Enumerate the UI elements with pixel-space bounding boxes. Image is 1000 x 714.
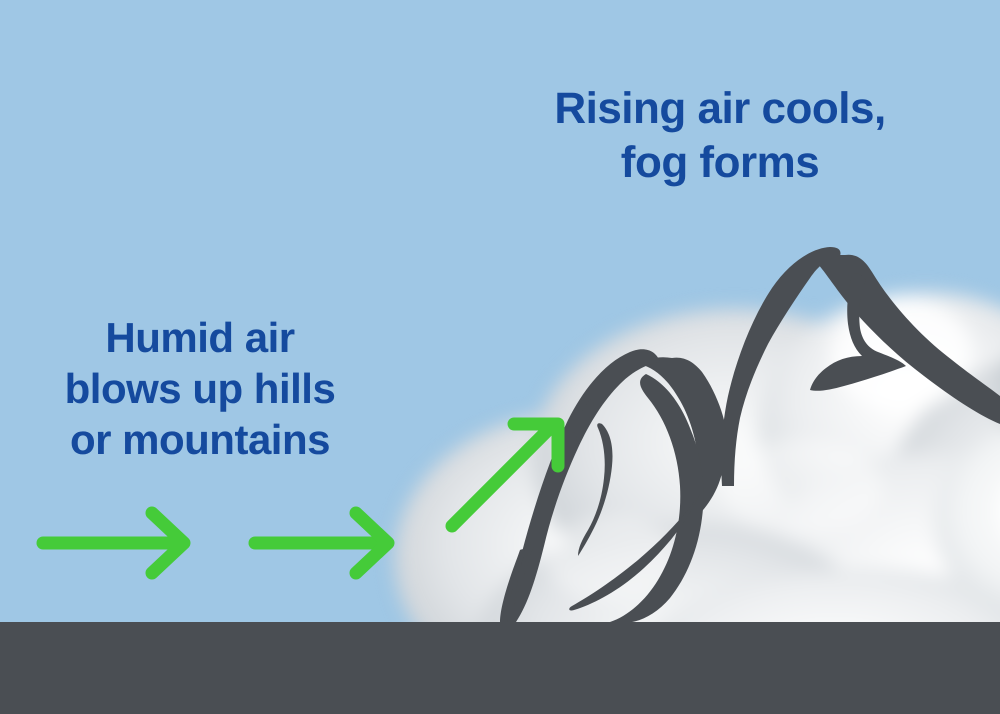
diagram-canvas: Rising air cools, fog forms Humid air bl… — [0, 0, 1000, 714]
wind-arrow-2 — [255, 513, 388, 573]
wind-arrow-1 — [43, 513, 184, 573]
label-rising-air-cools: Rising air cools, fog forms — [510, 82, 930, 189]
label-humid-air-blows-up: Humid air blows up hills or mountains — [55, 312, 345, 466]
upslope-arrow — [452, 424, 558, 526]
ground-surface — [0, 622, 1000, 714]
